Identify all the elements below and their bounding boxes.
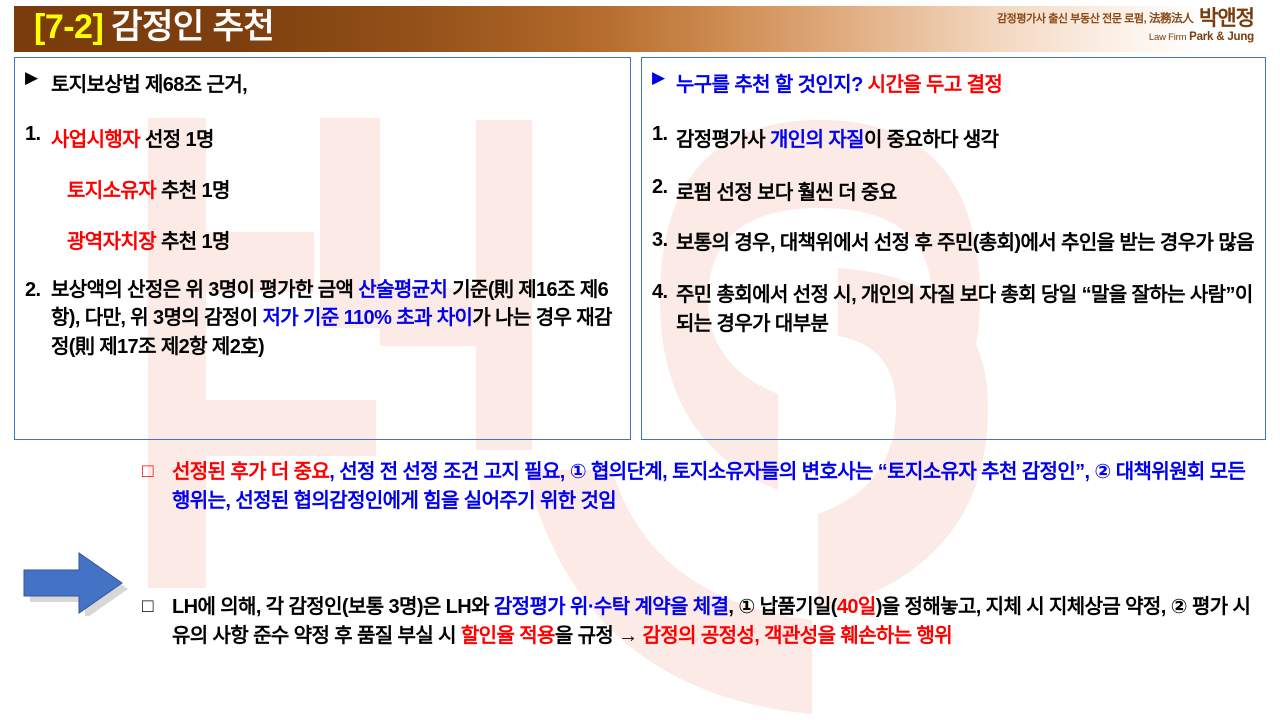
left-content-box: ▶ 토지보상법 제68조 근거, 1. 사업시행자 선정 1명 토지소유자 추천… <box>14 57 631 440</box>
slide-root: [7-2]감정인 추천 감정평가사 출신 부동산 전문 로펌, 法務法人 박앤정… <box>0 0 1280 720</box>
triangle-bullet-icon: ▶ <box>652 68 676 91</box>
right-item-1: 1. 감정평가사 개인의 자질이 중요하다 생각 <box>652 123 1255 152</box>
right-item-2: 2. 로펌 선정 보다 훨씬 더 중요 <box>652 176 1255 205</box>
bottom-bullet-2: □ LH에 의해, 각 감정인(보통 3명)은 LH와 감정평가 위·수탁 계약… <box>142 593 1267 651</box>
left-item-4: 2. 보상액의 산정은 위 3명이 평가한 금액 산술평균치 기준(則 제16조… <box>25 276 620 361</box>
bottom-bullet-1-text: 선정된 후가 더 중요, 선정 전 선정 조건 고지 필요, ① 협의단계, 토… <box>172 458 1267 516</box>
right-item-3: 3. 보통의 경우, 대책위에서 선정 후 주민(총회)에서 추인을 받는 경우… <box>652 229 1255 257</box>
logo-en-brand: Park & Jung <box>1189 31 1254 43</box>
right-box-heading: ▶ 누구를 추천 할 것인지? 시간을 두고 결정 <box>652 68 1255 97</box>
left-item-1: 1. 사업시행자 선정 1명 <box>25 123 620 152</box>
right-item-4-text: 주민 총회에서 선정 시, 개인의 자질 보다 총회 당일 “말을 잘하는 사람… <box>676 281 1255 338</box>
title-bar: [7-2]감정인 추천 감정평가사 출신 부동산 전문 로펌, 法務法人 박앤정… <box>14 6 1266 52</box>
logo-hanja: 法務法人 <box>1149 13 1193 25</box>
right-heading-text: 누구를 추천 할 것인지? 시간을 두고 결정 <box>676 68 1255 97</box>
left-item-2: 토지소유자 추천 1명 <box>25 174 620 203</box>
left-item-1-marker: 1. <box>25 123 51 146</box>
title-number: [7-2] <box>34 8 103 46</box>
right-item-1-text: 감정평가사 개인의 자질이 중요하다 생각 <box>676 123 1255 152</box>
square-bullet-icon: □ <box>142 593 172 621</box>
logo-tagline: 감정평가사 출신 부동산 전문 로펌, <box>997 13 1146 25</box>
triangle-bullet-icon: ▶ <box>25 68 51 91</box>
right-arrow-icon <box>20 550 130 616</box>
logo-brand: 박앤정 <box>1199 7 1254 30</box>
left-item-2-text: 토지소유자 추천 1명 <box>51 174 620 203</box>
logo-en-prefix: Law Firm <box>1149 32 1186 43</box>
right-item-4-marker: 4. <box>652 281 676 304</box>
bottom-bullet-1: □ 선정된 후가 더 중요, 선정 전 선정 조건 고지 필요, ① 협의단계,… <box>142 458 1267 516</box>
left-item-4-marker: 2. <box>25 276 51 304</box>
left-item-4-text: 보상액의 산정은 위 3명이 평가한 금액 산술평균치 기준(則 제16조 제6… <box>51 276 620 361</box>
left-item-3: 광역자치장 추천 1명 <box>25 225 620 254</box>
right-item-2-text: 로펌 선정 보다 훨씬 더 중요 <box>676 176 1255 205</box>
left-box-heading: ▶ 토지보상법 제68조 근거, <box>25 68 620 97</box>
left-heading-text: 토지보상법 제68조 근거, <box>51 68 620 97</box>
left-item-3-text: 광역자치장 추천 1명 <box>51 225 620 254</box>
page-title: [7-2]감정인 추천 <box>34 4 274 50</box>
bottom-bullet-2-text: LH에 의해, 각 감정인(보통 3명)은 LH와 감정평가 위·수탁 계약을 … <box>172 593 1267 651</box>
left-item-1-text: 사업시행자 선정 1명 <box>51 123 620 152</box>
title-name: 감정인 추천 <box>111 8 274 46</box>
right-item-4: 4. 주민 총회에서 선정 시, 개인의 자질 보다 총회 당일 “말을 잘하는… <box>652 281 1255 338</box>
right-item-3-marker: 3. <box>652 229 676 252</box>
right-content-box: ▶ 누구를 추천 할 것인지? 시간을 두고 결정 1. 감정평가사 개인의 자… <box>641 57 1266 440</box>
square-bullet-icon: □ <box>142 458 172 486</box>
right-item-1-marker: 1. <box>652 123 676 146</box>
firm-logo: 감정평가사 출신 부동산 전문 로펌, 法務法人 박앤정 Law Firm Pa… <box>997 8 1254 43</box>
right-item-3-text: 보통의 경우, 대책위에서 선정 후 주민(총회)에서 추인을 받는 경우가 많… <box>676 229 1255 257</box>
right-item-2-marker: 2. <box>652 176 676 199</box>
